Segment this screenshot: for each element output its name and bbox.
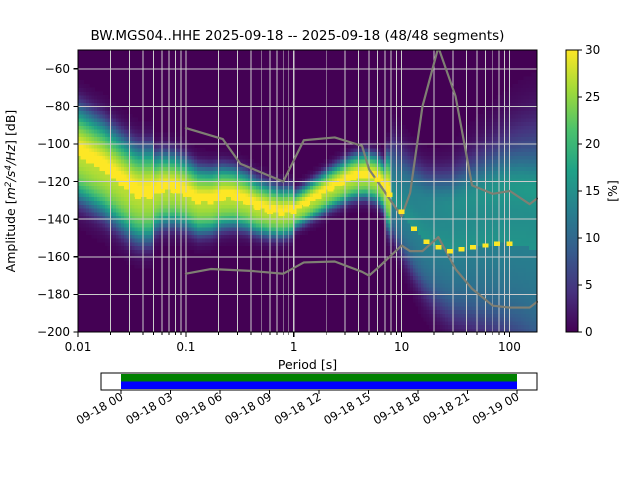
- density-cell: [378, 144, 381, 148]
- density-cell: [202, 148, 205, 152]
- density-cell: [237, 152, 240, 156]
- density-cell: [119, 106, 122, 110]
- density-cell: [305, 230, 308, 234]
- density-cell: [135, 118, 138, 122]
- density-cell: [100, 91, 103, 95]
- density-cell: [413, 136, 416, 140]
- density-cell: [251, 159, 254, 163]
- density-cell: [407, 133, 410, 137]
- density-cell: [345, 212, 348, 216]
- density-cell: [326, 219, 329, 223]
- density-cell: [402, 125, 405, 129]
- density-cell: [297, 234, 300, 238]
- density-cell: [105, 95, 108, 99]
- density-cell: [86, 84, 89, 88]
- density-cell: [92, 88, 95, 92]
- density-cell: [245, 155, 248, 159]
- density-cell: [256, 163, 259, 167]
- density-cell: [321, 223, 324, 227]
- density-cell: [154, 249, 157, 253]
- density-cell: [391, 110, 394, 114]
- density-cell: [81, 80, 84, 84]
- density-cell: [124, 110, 127, 114]
- density-cell: [313, 227, 316, 231]
- density-cell: [405, 129, 408, 133]
- density-cell: [191, 144, 194, 148]
- density-cell: [264, 167, 267, 171]
- density-cell: [424, 144, 427, 148]
- density-cell: [208, 249, 211, 253]
- figure-canvas: 0.010.1110100Period [s]−60−80−100−120−14…: [0, 0, 640, 480]
- ppsd-figure: 0.010.1110100Period [s]−60−80−100−120−14…: [0, 0, 640, 480]
